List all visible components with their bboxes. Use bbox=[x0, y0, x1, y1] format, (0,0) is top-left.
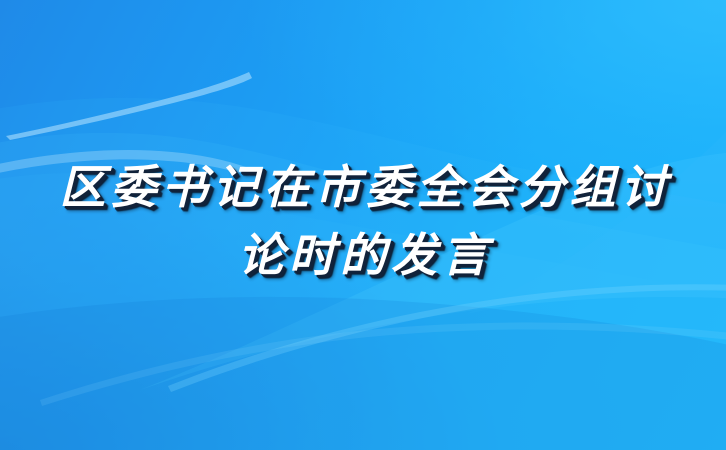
page-title: 区委书记在市委全会分组讨 论时的发言 bbox=[0, 158, 726, 284]
title-line-1: 区委书记在市委全会分组讨 bbox=[0, 158, 726, 216]
title-line-2: 论时的发言 bbox=[0, 226, 726, 284]
article-cover-banner: 区委书记在市委全会分组讨 论时的发言 bbox=[0, 0, 726, 450]
